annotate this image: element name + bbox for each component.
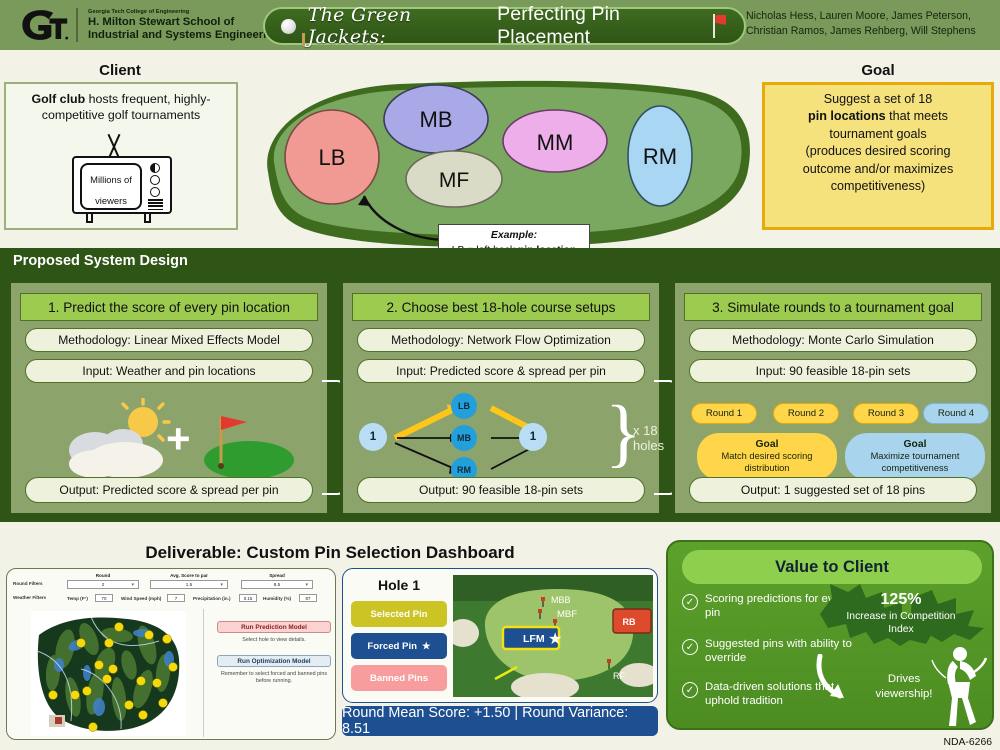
golfer-silhouette-icon: [930, 642, 992, 728]
optimization-note-line-1: Remember to select forced and: [221, 671, 296, 677]
step-2-output: Output: 90 feasible 18-pin sets: [357, 477, 645, 503]
goal-line-4: (produces desired scoring: [806, 144, 951, 158]
dashboard-screenshot: Round Filters Weather Filters Round 2▾ A…: [6, 568, 336, 740]
round-chip-1: Round 1: [691, 403, 757, 424]
logo-divider: [76, 8, 78, 42]
weather-filters-label: Weather Filters: [13, 595, 46, 600]
round-select-value: 2: [102, 582, 105, 587]
value-heading: Value to Client: [682, 550, 982, 584]
humidity-label: Humidity (%): [263, 596, 291, 601]
step-3-title: 3. Simulate rounds to a tournament goal: [684, 293, 982, 321]
spread-select-label: Spread: [241, 573, 313, 578]
svg-text:RF: RF: [613, 671, 625, 681]
goal-chip-competitiveness-line-1: Maximize tournament: [871, 451, 960, 463]
round-chip-4: Round 4: [923, 403, 989, 424]
step-3-output: Output: 1 suggested set of 18 pins: [689, 477, 977, 503]
chevron-down-icon: ▾: [131, 582, 134, 588]
dashboard-filters: Round Filters Weather Filters Round 2▾ A…: [7, 569, 336, 605]
star-icon: ★: [422, 641, 431, 652]
score-select-label: Avg. Score to par: [150, 573, 228, 578]
page-title: Perfecting Pin Placement: [497, 3, 712, 49]
svg-text:LB: LB: [319, 145, 346, 170]
step-2-input: Input: Predicted score & spread per pin: [357, 359, 645, 383]
svg-text:MF: MF: [439, 169, 469, 192]
flag-icon: [712, 14, 728, 38]
value-to-client-panel: Value to Client ✓ Scoring predictions fo…: [666, 540, 994, 730]
humidity-input[interactable]: 87: [299, 594, 317, 602]
poster-title-pill: The Green Jackets: Perfecting Pin Placem…: [263, 7, 746, 45]
goal-chip-scoring-line-2: distribution: [745, 463, 790, 475]
chevron-down-icon: ▾: [305, 582, 308, 588]
georgia-tech-logo: [14, 6, 70, 44]
check-icon: ✓: [682, 594, 698, 610]
spread-select[interactable]: 8.5▾: [241, 580, 313, 589]
golf-ball-icon: [281, 19, 296, 34]
client-description: Golf club hosts frequent, highly-competi…: [14, 91, 228, 123]
svg-text:MBB: MBB: [551, 595, 571, 605]
competition-index-line-2: Index: [828, 623, 974, 636]
svg-text:MBF: MBF: [557, 609, 577, 620]
goal-chip-competitiveness: Goal Maximize tournament competitiveness: [845, 433, 985, 480]
svg-text:RB: RB: [623, 617, 636, 627]
step-1-output: Output: Predicted score & spread per pin: [25, 477, 313, 503]
plus-icon: +: [166, 418, 191, 460]
wind-value: 7: [175, 596, 177, 601]
precip-input[interactable]: 0.15: [239, 594, 257, 602]
green-satellite-image[interactable]: LFM ★ RB MBB MBF RF: [453, 575, 653, 697]
step-3-input: Input: 90 feasible 18-pin sets: [689, 359, 977, 383]
poster-header: Georgia Tech College of Engineering H. M…: [0, 0, 1000, 50]
hole-title: Hole 1: [353, 577, 445, 593]
check-icon: ✓: [682, 639, 698, 655]
competition-index-value: 125%: [828, 590, 974, 610]
network-node-source: 1: [359, 423, 387, 451]
deliverable-heading: Deliverable: Custom Pin Selection Dashbo…: [0, 543, 660, 563]
chevron-down-icon: ▾: [220, 582, 223, 588]
goal-heading: Goal: [762, 62, 994, 79]
goal-description: Suggest a set of 18 pin locations that m…: [773, 91, 983, 195]
tv-line-2: viewers: [82, 195, 140, 207]
goal-line-5: outcome and/or maximizes: [803, 162, 954, 176]
network-node-mb: MB: [451, 425, 477, 451]
humidity-value: 87: [306, 596, 311, 601]
score-select[interactable]: 1.5▾: [150, 580, 228, 589]
svg-text:MB: MB: [420, 107, 453, 132]
goal-chip-scoring-head: Goal: [756, 439, 779, 451]
school-name: Georgia Tech College of Engineering H. M…: [88, 8, 280, 43]
wind-input[interactable]: 7: [167, 594, 185, 602]
forced-pin-button[interactable]: Forced Pin ★: [351, 633, 447, 659]
client-heading: Client: [0, 62, 240, 79]
step-3-methodology: Methodology: Monte Carlo Simulation: [689, 328, 977, 352]
round-filters-label: Round Filters: [13, 581, 43, 586]
step-1-methodology: Methodology: Linear Mixed Effects Model: [25, 328, 313, 352]
round-select-label: Round: [67, 573, 139, 578]
round-chip-2: Round 2: [773, 403, 839, 424]
school-line-1: H. Milton Stewart School of: [88, 16, 280, 30]
college-line: Georgia Tech College of Engineering: [88, 8, 280, 16]
example-title: Example:: [439, 228, 589, 243]
authors-line-2: Christian Ramos, James Rehberg, Will Ste…: [746, 24, 990, 39]
goal-line-6: competitiveness): [831, 179, 926, 193]
course-map-image[interactable]: [31, 611, 186, 736]
forced-pin-label: Forced Pin: [367, 641, 417, 652]
temp-input[interactable]: 70: [95, 594, 113, 602]
goal-panel: Suggest a set of 18 pin locations that m…: [762, 82, 994, 230]
goal-chip-scoring: Goal Match desired scoring distribution: [697, 433, 837, 480]
network-node-lb: LB: [451, 393, 477, 419]
hole-detail-panel: Hole 1 Selected Pin Forced Pin ★ Banned …: [342, 568, 658, 703]
network-node-sink: 1: [519, 423, 547, 451]
step-2-methodology: Methodology: Network Flow Optimization: [357, 328, 645, 352]
selected-pin-button[interactable]: Selected Pin: [351, 601, 447, 627]
nda-code: NDA-6266: [943, 737, 992, 748]
step-1-title: 1. Predict the score of every pin locati…: [20, 293, 318, 321]
prediction-note: Select hole to view details.: [214, 637, 334, 644]
client-description-bold: Golf club: [31, 92, 85, 106]
spread-select-value: 8.5: [274, 582, 280, 587]
optimization-note: Remember to select forced and banned pin…: [214, 671, 334, 685]
banned-pins-label: Banned Pins: [370, 673, 428, 684]
wind-label: Wind Speed (mph): [121, 596, 161, 601]
banned-pins-button[interactable]: Banned Pins: [351, 665, 447, 691]
goal-line-2: that meets: [886, 109, 948, 123]
competition-index-callout: 125% Increase in Competition Index: [828, 590, 974, 636]
television-icon: Millions of viewers: [72, 156, 172, 222]
svg-text:MM: MM: [537, 130, 574, 155]
round-select[interactable]: 2▾: [67, 580, 139, 589]
goal-chip-competitiveness-head: Goal: [904, 439, 927, 451]
dashboard-divider: [203, 609, 204, 737]
authors-line-1: Nicholas Hess, Lauren Moore, James Peter…: [746, 9, 990, 24]
step-2-panel: 2. Choose best 18-hole course setups Met…: [340, 280, 662, 516]
run-optimization-model-button[interactable]: Run Optimization Model: [217, 655, 331, 667]
score-select-value: 1.5: [186, 582, 192, 587]
svg-text:LFM: LFM: [523, 633, 545, 645]
goal-chip-scoring-line-1: Match desired scoring: [722, 451, 813, 463]
selected-pin-label: Selected Pin: [370, 609, 427, 620]
round-chip-3: Round 3: [853, 403, 919, 424]
repeat-brace-icon: }: [605, 391, 629, 483]
golf-tee-icon: [302, 33, 305, 46]
author-list: Nicholas Hess, Lauren Moore, James Peter…: [746, 9, 990, 38]
client-panel: Golf club hosts frequent, highly-competi…: [4, 82, 238, 230]
team-name: The Green Jackets:: [308, 4, 492, 48]
step-1-input: Input: Weather and pin locations: [25, 359, 313, 383]
round-score-bar: Round Mean Score: +1.50 | Round Variance…: [342, 706, 658, 736]
run-prediction-model-button[interactable]: Run Prediction Model: [217, 621, 331, 633]
step-1-panel: 1. Predict the score of every pin locati…: [8, 280, 330, 516]
temp-label: Temp (F°): [67, 596, 88, 601]
system-design-heading: Proposed System Design: [0, 248, 230, 274]
competition-index-line-1: Increase in Competition: [828, 610, 974, 623]
goal-line-1: Suggest a set of 18: [824, 92, 933, 106]
step-2-title: 2. Choose best 18-hole course setups: [352, 293, 650, 321]
tv-line-1: Millions of: [82, 174, 140, 186]
precip-value: 0.15: [244, 596, 253, 601]
check-icon: ✓: [682, 682, 698, 698]
svg-text:★: ★: [548, 629, 562, 648]
goal-chip-competitiveness-line-2: competitiveness: [882, 463, 949, 475]
goal-bold: pin locations: [808, 109, 886, 123]
school-line-2: Industrial and Systems Engineering: [88, 29, 280, 43]
temp-value: 70: [102, 596, 107, 601]
step-3-panel: 3. Simulate rounds to a tournament goal …: [672, 280, 994, 516]
goal-line-3: tournament goals: [829, 127, 926, 141]
precip-label: Precipitation (in.): [193, 596, 231, 601]
svg-text:RM: RM: [643, 144, 677, 169]
